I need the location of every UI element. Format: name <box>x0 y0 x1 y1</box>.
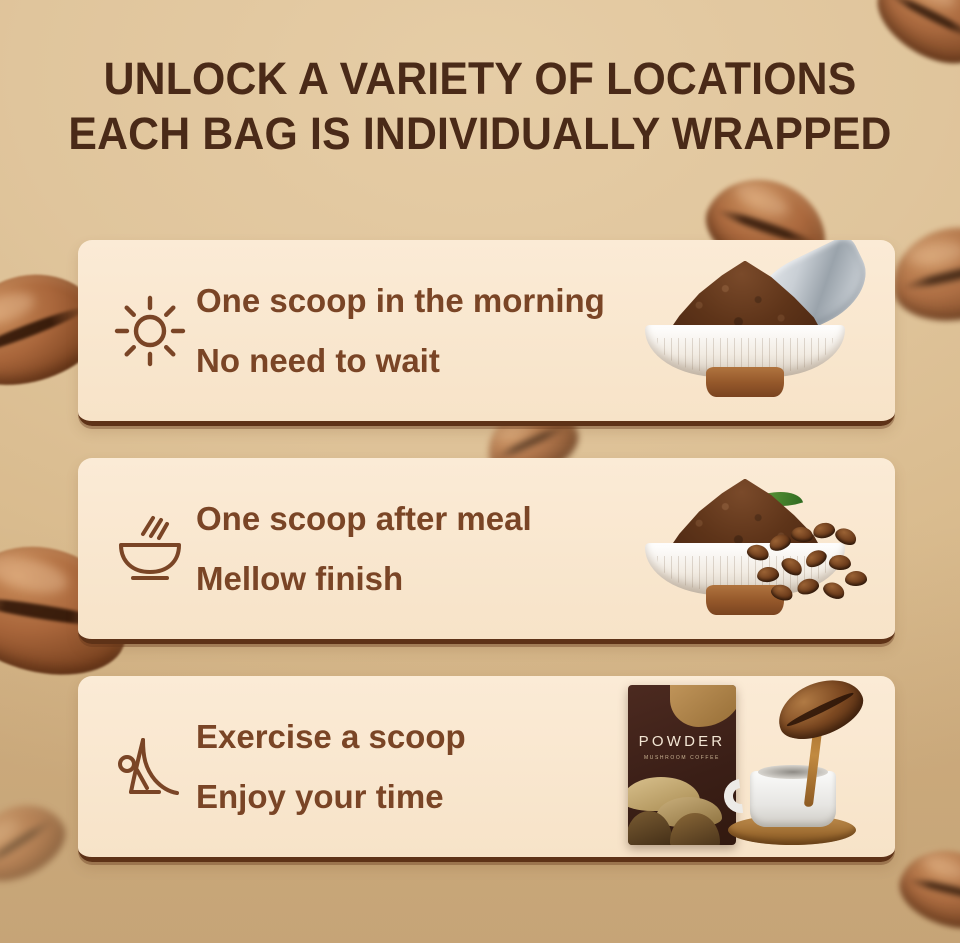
pouch-brand-name: POWDER <box>628 733 736 750</box>
headline-line-1: UNLOCK A VARIETY OF LOCATIONS <box>24 52 936 107</box>
benefit-card-line-1: One scoop in the morning <box>196 270 605 330</box>
benefit-card-text: One scoop after meal Mellow finish <box>196 488 532 608</box>
page-title: UNLOCK A VARIETY OF LOCATIONS EACH BAG I… <box>24 52 936 162</box>
benefit-card-text: One scoop in the morning No need to wait <box>196 270 605 390</box>
wooden-stand <box>706 367 784 397</box>
benefit-card-line-1: Exercise a scoop <box>196 706 466 766</box>
benefit-card-list: One scoop in the morning No need to wait <box>78 240 895 894</box>
coffee-powder-bowl-with-spoon-image <box>595 240 895 421</box>
scattered-coffee-beans <box>741 523 871 605</box>
pouch-splash-graphic <box>670 685 736 727</box>
coffee-powder-bowl-with-beans-image <box>595 458 895 639</box>
benefit-card-line-2: No need to wait <box>196 331 605 391</box>
benefit-card: One scoop in the morning No need to wait <box>78 240 895 426</box>
product-pouch: POWDER MUSHROOM COFFEE <box>628 685 736 845</box>
coffee-cup <box>750 771 836 827</box>
steaming-bowl-icon <box>104 503 196 595</box>
benefit-card-line-1: One scoop after meal <box>196 488 532 548</box>
powder-pouch-and-coffee-cup-image: POWDER MUSHROOM COFFEE <box>595 676 895 857</box>
benefit-card-line-2: Enjoy your time <box>196 767 466 827</box>
mushroom-illustration <box>628 759 736 845</box>
benefit-card: Exercise a scoop Enjoy your time POWDER … <box>78 676 895 862</box>
benefit-card-text: Exercise a scoop Enjoy your time <box>196 706 466 826</box>
headline-line-2: EACH BAG IS INDIVIDUALLY WRAPPED <box>24 107 936 162</box>
benefit-card: One scoop after meal Mellow finish <box>78 458 895 644</box>
sun-icon <box>104 285 196 377</box>
stretching-person-icon <box>104 721 196 813</box>
benefit-card-line-2: Mellow finish <box>196 549 532 609</box>
